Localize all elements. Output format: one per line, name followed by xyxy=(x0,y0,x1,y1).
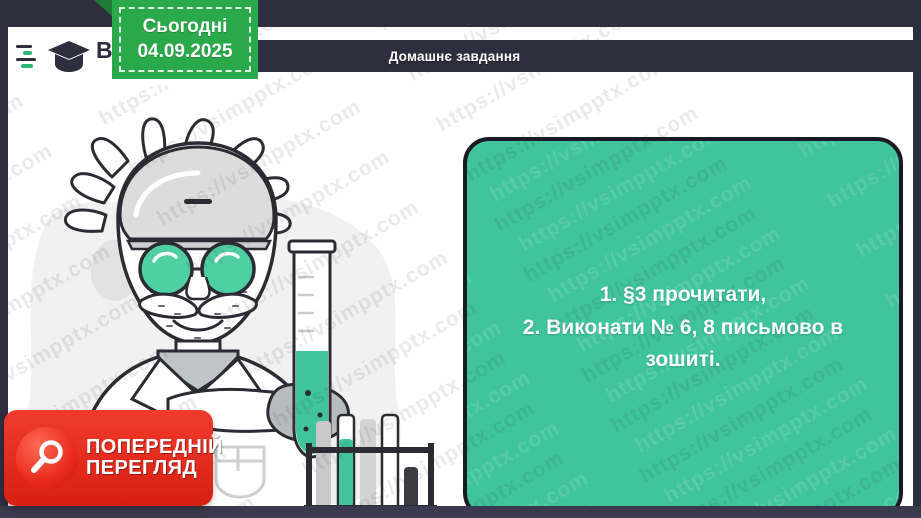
homework-line: 2. Виконати № 6, 8 письмово в xyxy=(523,312,843,345)
watermark-text: https://vsimpptx.com xyxy=(853,137,903,263)
watermark-text: https://vsimpptx.com xyxy=(689,423,901,513)
watermark-text: https://vsimpptx.com xyxy=(375,27,587,35)
watermark-text: https://vsimpptx.com xyxy=(660,373,872,509)
preview-badge-label: ПОПЕРЕДНІЙ ПЕРЕГЛЯД xyxy=(86,437,223,479)
slide-canvas: https://vsimpptx.comhttps://vsimpptx.com… xyxy=(0,0,921,518)
watermark-text: https://vsimpptx.com xyxy=(463,316,506,452)
watermark-text: https://vsimpptx.com xyxy=(486,137,698,207)
page-title: Домашнє завдання xyxy=(389,49,521,64)
preview-badge[interactable]: ПОПЕРЕДНІЙ ПЕРЕГЛЯД xyxy=(4,410,213,506)
watermark-text: https://vsimpptx.com xyxy=(824,137,903,213)
homework-content-panel: https://vsimpptx.comhttps://vsimpptx.com… xyxy=(463,137,903,513)
today-label: Сьогодні xyxy=(143,15,228,39)
today-date-badge: Сьогодні 04.09.2025 xyxy=(112,0,258,79)
watermark-text: https://vsimpptx.com xyxy=(463,366,535,502)
watermark-text: https://vsimpptx.com xyxy=(795,137,903,163)
watermark-text: https://vsimpptx.com xyxy=(463,266,477,402)
watermark-text: https://vsimpptx.com xyxy=(882,178,903,314)
watermark-text: https://vsimpptx.com xyxy=(463,137,669,156)
graduation-cap-icon xyxy=(47,39,91,73)
slide-bottom-bar xyxy=(0,506,921,518)
preview-badge-line2: ПЕРЕГЛЯД xyxy=(86,458,223,479)
today-date: 04.09.2025 xyxy=(137,40,232,64)
ribbon-fold xyxy=(94,0,112,16)
homework-task-text: 1. §3 прочитати, 2. Виконати № 6, 8 пись… xyxy=(509,279,857,377)
watermark-text: https://vsimpptx.com xyxy=(463,417,564,513)
homework-line: зошиті. xyxy=(523,344,843,377)
homework-line: 1. §3 прочитати, xyxy=(523,279,843,312)
preview-badge-line1: ПОПЕРЕДНІЙ xyxy=(86,437,223,458)
speed-lines-icon xyxy=(16,45,42,68)
watermark-text: https://vsimpptx.com xyxy=(515,137,727,257)
magnifier-icon xyxy=(16,427,78,489)
